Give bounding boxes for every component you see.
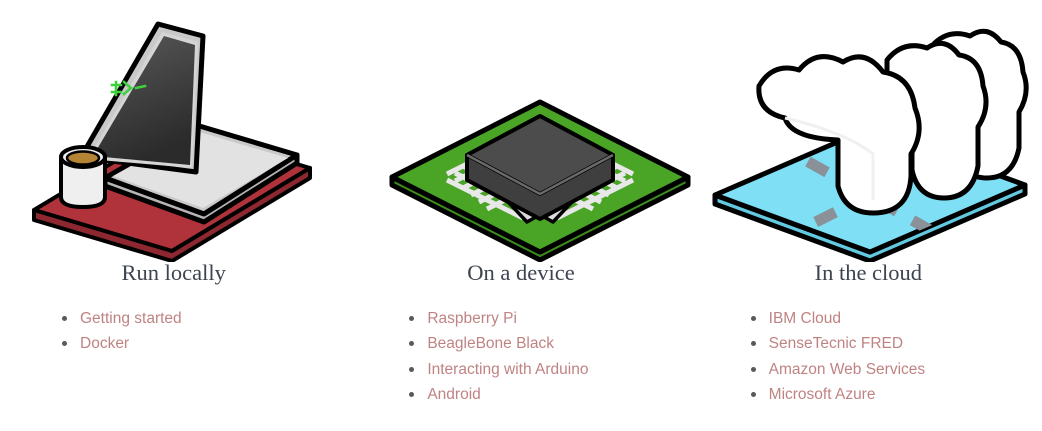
link-ibm-cloud[interactable]: IBM Cloud bbox=[769, 310, 841, 327]
list-item[interactable]: Interacting with Arduino bbox=[409, 357, 694, 382]
bullet-icon bbox=[751, 341, 756, 346]
link-raspberry-pi[interactable]: Raspberry Pi bbox=[427, 310, 517, 327]
cloud-over-network-plate-illustration bbox=[695, 0, 1042, 262]
list-item[interactable]: BeagleBone Black bbox=[409, 331, 694, 356]
bullet-icon bbox=[751, 392, 756, 397]
circuit-board-illustration-container bbox=[347, 0, 694, 262]
page-title-in-the-cloud: In the cloud bbox=[695, 262, 1042, 292]
list-item[interactable]: Microsoft Azure bbox=[751, 382, 1042, 407]
list-item[interactable]: Amazon Web Services bbox=[751, 357, 1042, 382]
bullet-icon bbox=[751, 316, 756, 321]
link-getting-started[interactable]: Getting started bbox=[80, 310, 182, 327]
bullet-icon bbox=[62, 316, 67, 321]
link-list-on-a-device: Raspberry Pi BeagleBone Black Interactin… bbox=[347, 306, 694, 408]
list-item[interactable]: Getting started bbox=[62, 306, 347, 331]
link-list-run-locally: Getting started Docker bbox=[0, 306, 347, 357]
link-android[interactable]: Android bbox=[427, 386, 480, 403]
link-microsoft-azure[interactable]: Microsoft Azure bbox=[769, 386, 876, 403]
circuit-board-chip-illustration bbox=[347, 0, 694, 262]
column-in-the-cloud: In the cloud IBM Cloud SenseTecnic FRED … bbox=[695, 0, 1042, 431]
cloud-illustration-container bbox=[695, 0, 1042, 262]
bullet-icon bbox=[62, 341, 67, 346]
laptop-on-desk-mat-illustration bbox=[0, 0, 347, 262]
list-item[interactable]: Android bbox=[409, 382, 694, 407]
link-docker[interactable]: Docker bbox=[80, 335, 129, 352]
page-title-run-locally: Run locally bbox=[0, 262, 347, 292]
link-list-in-the-cloud: IBM Cloud SenseTecnic FRED Amazon Web Se… bbox=[695, 306, 1042, 408]
column-run-locally: Run locally Getting started Docker bbox=[0, 0, 347, 431]
laptop-illustration-container bbox=[0, 0, 347, 262]
coffee-cup bbox=[61, 147, 105, 207]
column-on-a-device: On a device Raspberry Pi BeagleBone Blac… bbox=[347, 0, 694, 431]
deployment-options-grid: Run locally Getting started Docker bbox=[0, 0, 1042, 431]
list-item[interactable]: Raspberry Pi bbox=[409, 306, 694, 331]
bullet-icon bbox=[409, 392, 414, 397]
list-item[interactable]: SenseTecnic FRED bbox=[751, 331, 1042, 356]
list-item[interactable]: Docker bbox=[62, 331, 347, 356]
bullet-icon bbox=[409, 341, 414, 346]
link-beaglebone-black[interactable]: BeagleBone Black bbox=[427, 335, 554, 352]
list-item[interactable]: IBM Cloud bbox=[751, 306, 1042, 331]
bullet-icon bbox=[409, 316, 414, 321]
link-amazon-web-services[interactable]: Amazon Web Services bbox=[769, 361, 926, 378]
bullet-icon bbox=[409, 367, 414, 372]
bullet-icon bbox=[751, 367, 756, 372]
link-sensetecnic-fred[interactable]: SenseTecnic FRED bbox=[769, 335, 903, 352]
page-title-on-a-device: On a device bbox=[347, 262, 694, 292]
link-interacting-with-arduino[interactable]: Interacting with Arduino bbox=[427, 361, 588, 378]
